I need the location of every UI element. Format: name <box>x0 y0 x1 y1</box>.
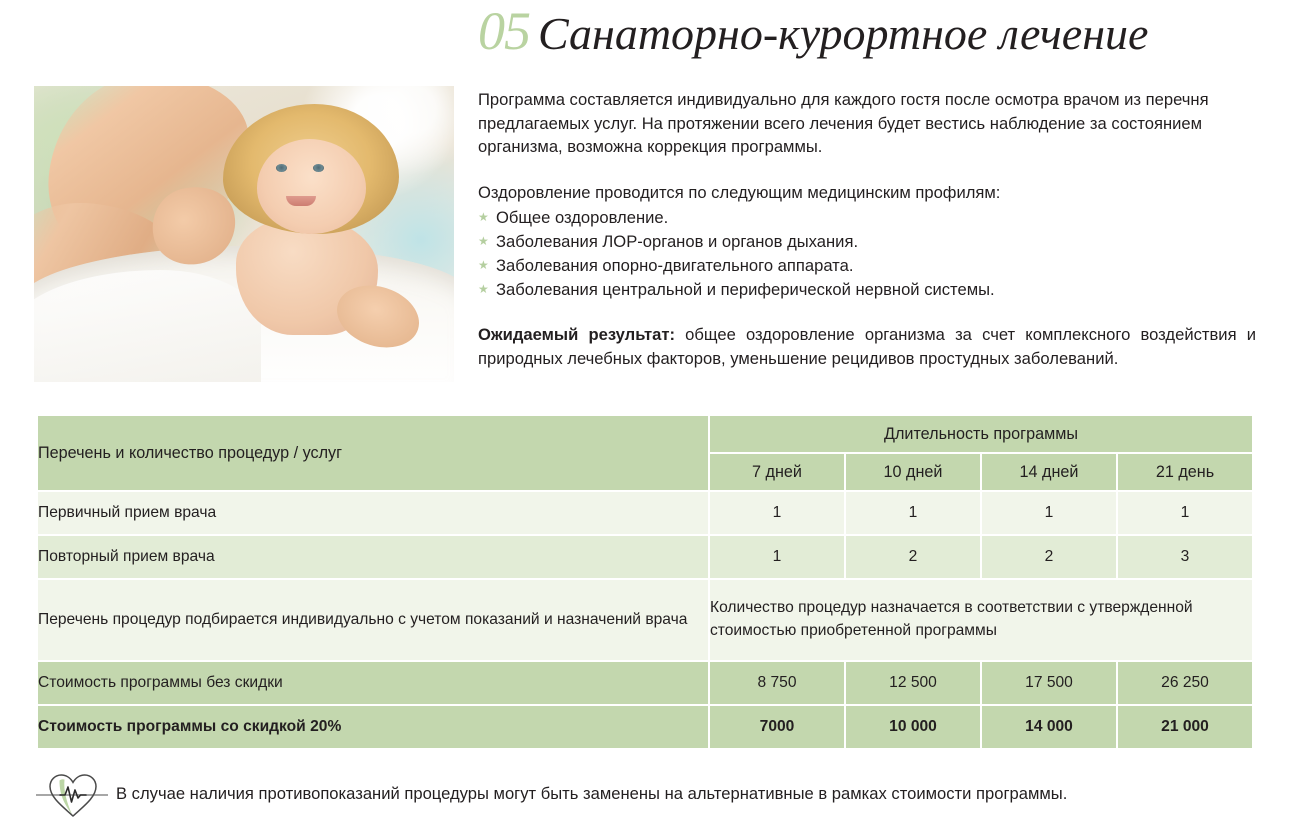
list-item-label: Заболевания опорно-двигательного аппарат… <box>496 256 853 275</box>
cell-price-full-14: 17 500 <box>982 662 1116 704</box>
row-label-individual-procedures: Перечень процедур подбирается индивидуал… <box>38 580 708 660</box>
section-number: 05 <box>478 4 530 58</box>
cell-price-discount-7: 7000 <box>710 706 844 748</box>
photo-towel-fold <box>34 270 261 382</box>
profiles-lead-in: Оздоровление проводится по следующим мед… <box>478 181 1256 205</box>
cell-primary-visit-14: 1 <box>982 492 1116 534</box>
list-item-label: Заболевания центральной и периферической… <box>496 280 995 299</box>
table-header-services: Перечень и количество процедур / услуг <box>38 416 708 490</box>
table-row: Перечень процедур подбирается индивидуал… <box>38 580 1252 660</box>
table-header-row: Перечень и количество процедур / услуг Д… <box>38 416 1252 452</box>
cell-price-discount-21: 21 000 <box>1118 706 1252 748</box>
star-bullet-icon: ★ <box>478 230 489 253</box>
list-item: ★ Заболевания ЛОР-органов и органов дыха… <box>478 230 1256 254</box>
table-header-7-days: 7 дней <box>710 454 844 490</box>
cell-price-full-10: 12 500 <box>846 662 980 704</box>
row-label-price-discount: Стоимость программы со скидкой 20% <box>38 706 708 748</box>
page-title: Санаторно-курортное лечение <box>538 11 1148 57</box>
cell-primary-visit-21: 1 <box>1118 492 1252 534</box>
row-label-primary-visit: Первичный прием врача <box>38 492 708 534</box>
cell-repeat-visit-10: 2 <box>846 536 980 578</box>
heart-pulse-icon <box>34 766 112 822</box>
page-header: 05 Санаторно-курортное лечение <box>478 4 1278 66</box>
profiles-list: ★ Общее оздоровление. ★ Заболевания ЛОР-… <box>478 206 1256 302</box>
cell-repeat-visit-7: 1 <box>710 536 844 578</box>
cell-price-discount-10: 10 000 <box>846 706 980 748</box>
row-label-price-full: Стоимость программы без скидки <box>38 662 708 704</box>
cell-repeat-visit-21: 3 <box>1118 536 1252 578</box>
program-pricing-table: Перечень и количество процедур / услуг Д… <box>36 414 1254 750</box>
list-item: ★ Заболевания опорно-двигательного аппар… <box>478 254 1256 278</box>
footer-note: В случае наличия противопоказаний процед… <box>34 766 1256 822</box>
cell-repeat-visit-14: 2 <box>982 536 1116 578</box>
table-header-duration-group: Длительность программы <box>710 416 1252 452</box>
table-row: Стоимость программы без скидки 8 750 12 … <box>38 662 1252 704</box>
table-row: Повторный прием врача 1 2 2 3 <box>38 536 1252 578</box>
cell-price-discount-14: 14 000 <box>982 706 1116 748</box>
list-item: ★ Общее оздоровление. <box>478 206 1256 230</box>
hero-photo <box>34 86 454 382</box>
cell-price-full-21: 26 250 <box>1118 662 1252 704</box>
table-header-14-days: 14 дней <box>982 454 1116 490</box>
list-item: ★ Заболевания центральной и периферическ… <box>478 278 1256 302</box>
row-label-repeat-visit: Повторный прием врача <box>38 536 708 578</box>
star-bullet-icon: ★ <box>478 206 489 229</box>
cell-individual-procedures-note: Количество процедур назначается в соотве… <box>710 580 1252 660</box>
photo-child-face <box>257 139 366 234</box>
table-row: Первичный прием врача 1 1 1 1 <box>38 492 1252 534</box>
star-bullet-icon: ★ <box>478 254 489 277</box>
intro-paragraph: Программа составляется индивидуально для… <box>478 88 1256 159</box>
intro-column: Программа составляется индивидуально для… <box>478 88 1256 371</box>
cell-primary-visit-7: 1 <box>710 492 844 534</box>
photo-child-mouth <box>286 196 316 206</box>
expected-result-paragraph: Ожидаемый результат: общее оздоровление … <box>478 323 1256 371</box>
expected-result-label: Ожидаемый результат: <box>478 325 675 344</box>
list-item-label: Общее оздоровление. <box>496 208 668 227</box>
list-item-label: Заболевания ЛОР-органов и органов дыхани… <box>496 232 858 251</box>
paragraph-spacer <box>478 159 1256 181</box>
table-header-10-days: 10 дней <box>846 454 980 490</box>
cell-price-full-7: 8 750 <box>710 662 844 704</box>
footer-note-text: В случае наличия противопоказаний процед… <box>116 783 1067 805</box>
cell-primary-visit-10: 1 <box>846 492 980 534</box>
table-row: Стоимость программы со скидкой 20% 7000 … <box>38 706 1252 748</box>
table-header-21-days: 21 день <box>1118 454 1252 490</box>
star-bullet-icon: ★ <box>478 278 489 301</box>
